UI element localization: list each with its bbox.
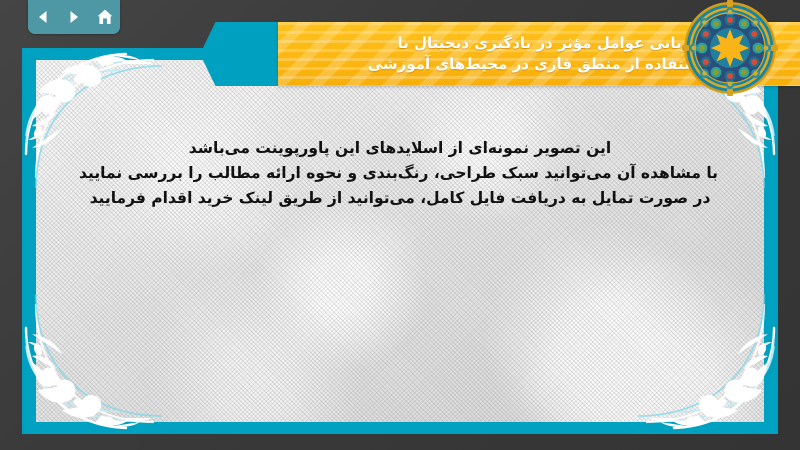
- triangle-right-icon: [66, 9, 82, 25]
- triangle-left-icon: [35, 9, 51, 25]
- slide-background: [36, 60, 764, 422]
- banner-arrow-shape: [200, 22, 286, 86]
- home-button[interactable]: [94, 6, 116, 28]
- presentation-viewer: این تصویر نمونه‌ای از اسلایدهای این پاور…: [0, 0, 800, 450]
- slide-body-text: این تصویر نمونه‌ای از اسلایدهای این پاور…: [82, 136, 718, 211]
- title-line-2: استفاده از منطق فازی در محیط‌های آموزشی: [278, 54, 704, 75]
- slide-canvas: این تصویر نمونه‌ای از اسلایدهای این پاور…: [22, 48, 778, 434]
- body-line: در صورت تمایل به دریافت فایل کامل، می‌تو…: [82, 186, 718, 211]
- home-icon: [96, 8, 114, 26]
- next-slide-button[interactable]: [63, 6, 85, 28]
- previous-slide-button[interactable]: [32, 6, 54, 28]
- islamic-medallion-icon: [682, 0, 778, 96]
- body-line: با مشاهده آن می‌توانید سبک طراحی، رنگ‌بن…: [82, 161, 718, 186]
- slide-navigation-bar: [28, 0, 120, 34]
- title-line-1: ارزیابی عوامل مؤثر در یادگیری دیجیتال با: [278, 33, 704, 54]
- body-line: این تصویر نمونه‌ای از اسلایدهای این پاور…: [82, 136, 718, 161]
